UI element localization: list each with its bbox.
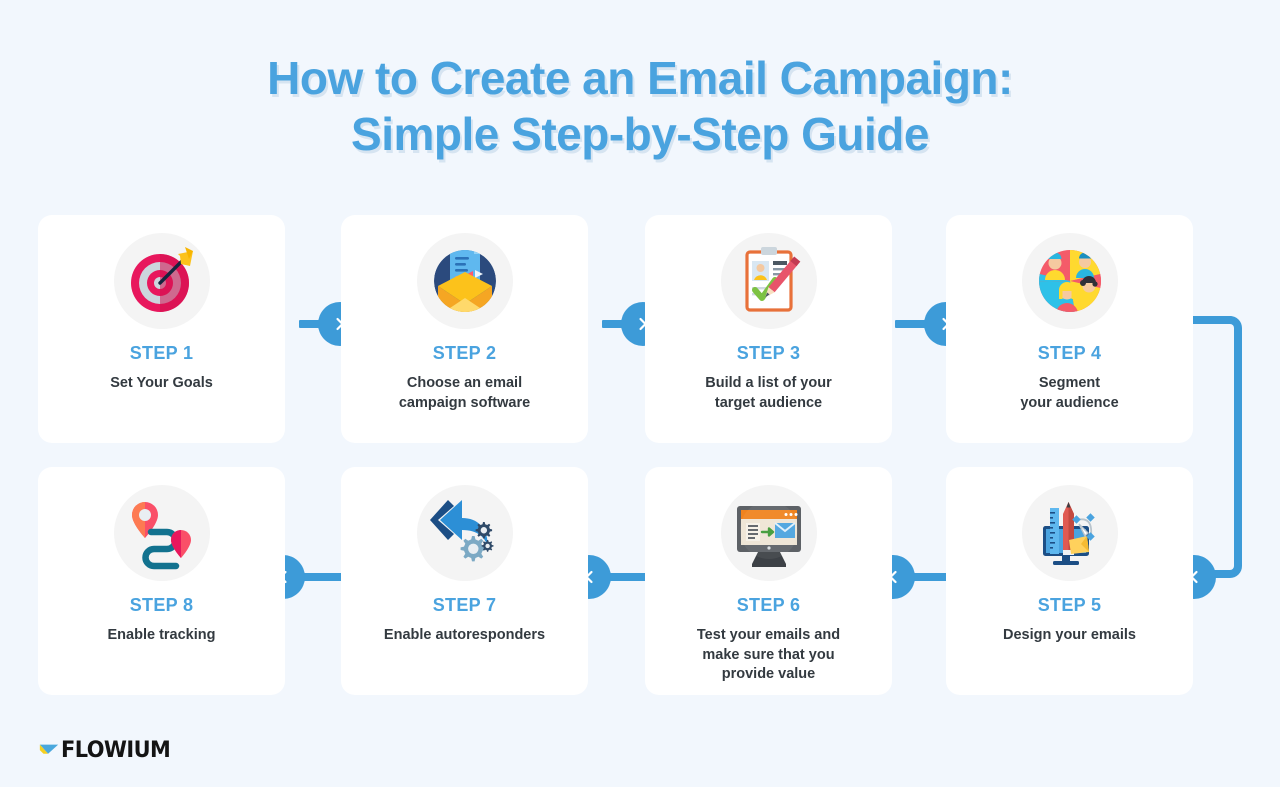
step-label: STEP 1 <box>130 343 194 364</box>
step-card-6[interactable]: STEP 6 Test your emails and make sure th… <box>645 467 892 695</box>
audience-pie-chart-icon <box>1022 233 1118 329</box>
step-description: Build a list of your target audience <box>689 374 847 413</box>
reply-arrow-gears-icon <box>417 485 513 581</box>
step-description: Set Your Goals <box>94 374 229 394</box>
step-label: STEP 3 <box>737 343 801 364</box>
step-card-2[interactable]: STEP 2 Choose an email campaign software <box>341 215 588 443</box>
step-card-1[interactable]: STEP 1 Set Your Goals <box>38 215 285 443</box>
step-card-5[interactable]: STEP 5 Design your emails <box>946 467 1193 695</box>
envelope-megaphone-icon <box>417 233 513 329</box>
design-tools-monitor-icon <box>1022 485 1118 581</box>
brand-name: FLOWIUM <box>61 738 170 763</box>
brand-logo[interactable]: FLOWIUM <box>38 738 176 763</box>
step-label: STEP 7 <box>433 595 497 616</box>
step-card-3[interactable]: STEP 3 Build a list of your target audie… <box>645 215 892 443</box>
steps-board: STEP 1 Set Your Goals <box>0 0 1280 787</box>
target-dartboard-icon <box>114 233 210 329</box>
step-description: Design your emails <box>987 626 1152 646</box>
connector-step7-step8-line <box>299 573 347 581</box>
step-label: STEP 2 <box>433 343 497 364</box>
step-description: Test your emails and make sure that you … <box>681 626 856 685</box>
step-description: Segment your audience <box>1004 374 1134 413</box>
step-label: STEP 6 <box>737 595 801 616</box>
step-description: Choose an email campaign software <box>383 374 546 413</box>
step-description: Enable autoresponders <box>368 626 561 646</box>
flowium-triangle-mark-icon <box>38 740 60 762</box>
clipboard-profile-checklist-icon <box>721 233 817 329</box>
map-pins-route-icon <box>114 485 210 581</box>
step-label: STEP 4 <box>1038 343 1102 364</box>
step-card-4[interactable]: STEP 4 Segment your audience <box>946 215 1193 443</box>
monitor-email-send-icon <box>721 485 817 581</box>
step-card-7[interactable]: STEP 7 Enable autoresponders <box>341 467 588 695</box>
step-label: STEP 5 <box>1038 595 1102 616</box>
step-label: STEP 8 <box>130 595 194 616</box>
step-description: Enable tracking <box>92 626 232 646</box>
step-card-8[interactable]: STEP 8 Enable tracking <box>38 467 285 695</box>
